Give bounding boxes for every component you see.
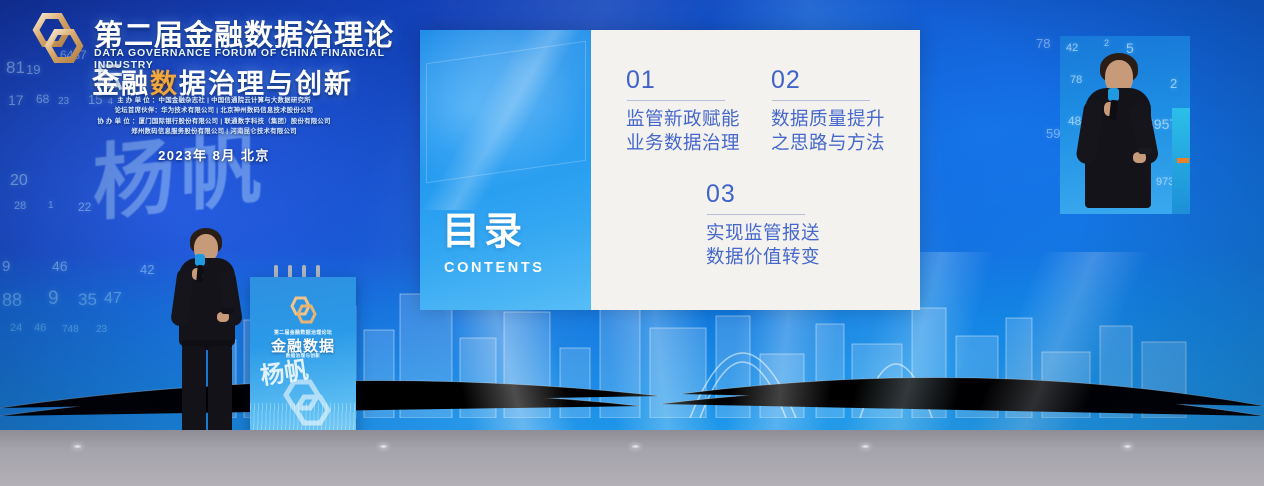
stage-speaker	[160, 228, 256, 460]
slide-heading-cn: 目录	[442, 212, 526, 250]
presentation-slide: 目录 CONTENTS 01 监管新政赋能 业务数据治理 02 数据质量提升 之…	[420, 30, 920, 310]
toc-item-02-number: 02	[771, 68, 885, 93]
forum-banner: 第二届金融数据治理论坛 DATA GOVERNANCE FORUM OF CHI…	[8, 4, 420, 176]
banner-organizers: 主 办 单 位 ：中国金融杂志社 | 中国信通院云计算与大数据研究所 论坛首席伙…	[8, 96, 420, 138]
floor-inset-light	[72, 444, 83, 449]
feed-orange-accent	[1177, 158, 1189, 163]
toc-item-03-rule	[707, 214, 805, 215]
toc-item-03-line2: 数据价值转变	[706, 246, 820, 270]
toc-item-01-number: 01	[626, 68, 740, 93]
toc-item-02-line2: 之思路与方法	[771, 132, 885, 156]
video-feed-speaker	[1060, 36, 1190, 214]
speaker-closeup-video-feed: 42 2 5 78 2 48 5957 973	[1060, 36, 1190, 214]
banner-date-location: 2023年 8月 北京	[8, 145, 420, 164]
toc-item-01[interactable]: 01 监管新政赋能 业务数据治理	[626, 68, 740, 155]
toc-item-01-rule	[627, 100, 725, 101]
floor-inset-light	[630, 444, 641, 449]
podium-hexagon-logo-icon	[284, 295, 322, 325]
presentation-clicker	[221, 308, 234, 314]
stage-floor	[0, 430, 1264, 486]
toc-item-02[interactable]: 02 数据质量提升 之思路与方法	[771, 68, 885, 155]
toc-item-03-line1: 实现监管报送	[706, 222, 820, 246]
floor-inset-light	[860, 444, 871, 449]
toc-item-01-line1: 监管新政赋能	[626, 108, 740, 132]
conference-stage-photo: 杨帆 8119643717682315420281229464288935472…	[0, 0, 1264, 486]
slide-accent-panel: 目录 CONTENTS	[420, 30, 591, 310]
organizer-line: 主 办 单 位 ：中国金融杂志社 | 中国信通院云计算与大数据研究所	[8, 96, 420, 106]
floor-inset-light	[1122, 444, 1133, 449]
toc-item-02-line1: 数据质量提升	[771, 108, 885, 132]
organizer-line: 论坛首席伙伴：华为技术有限公司 | 北京神州数码信息技术股份公司	[8, 106, 420, 116]
toc-item-03-number: 03	[706, 182, 820, 207]
floor-inset-light	[378, 444, 389, 449]
toc-item-03[interactable]: 03 实现监管报送 数据价值转变	[706, 182, 820, 269]
feed-presentation-clicker	[1138, 148, 1152, 154]
organizer-line: 郑州数码信息服务股份有限公司 | 河南昆仑技术有限公司	[8, 127, 420, 137]
toc-item-02-rule	[772, 100, 870, 101]
toc-item-01-line2: 业务数据治理	[626, 132, 740, 156]
panel-wireframe	[426, 41, 586, 183]
interlocking-hexagon-logo-icon	[22, 10, 94, 66]
organizer-line: 协 办 单 位 ：厦门国际银行股份有限公司 | 联通数字科技（集团）股份有限公司	[8, 117, 420, 127]
slide-heading-en: CONTENTS	[444, 260, 545, 276]
